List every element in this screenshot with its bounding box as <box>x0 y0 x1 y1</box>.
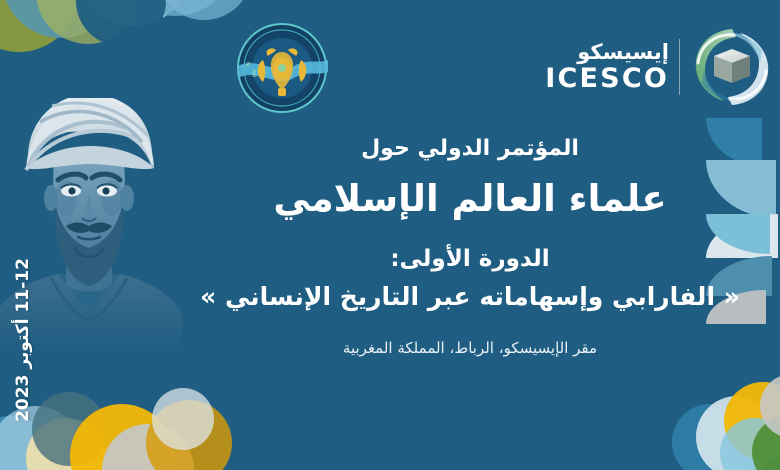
deco-circle <box>146 400 232 470</box>
partner-emblem-kazakhstan: MINISTRY OF SCIENCE AND HIGHER EDUCATION… <box>230 16 334 120</box>
icesco-logo: إيسيسكو ICESCO <box>558 24 774 110</box>
deco-circle <box>152 388 214 450</box>
deco-circle <box>118 0 234 16</box>
deco-circle <box>720 418 780 470</box>
page-title: علماء العالم الإسلامي <box>190 177 750 220</box>
deco-circle <box>724 382 780 460</box>
deco-circle <box>672 404 748 470</box>
deco-circle <box>36 0 140 44</box>
deco-circle <box>78 0 190 26</box>
deco-circle <box>32 392 106 466</box>
conference-edition: الدورة الأولى: <box>190 246 750 272</box>
deco-circle <box>760 374 780 438</box>
event-date: 11-12 أكتوبر 2023 <box>13 245 33 435</box>
deco-circle <box>102 424 194 470</box>
deco-circle <box>26 418 106 470</box>
conference-venue: مقر الإيسيسكو، الرباط، المملكة المغربية <box>190 339 750 357</box>
deco-circle <box>696 396 778 470</box>
icesco-name-arabic: إيسيسكو <box>577 42 669 63</box>
decorative-circles-bottom-right <box>690 392 780 470</box>
deco-circle <box>2 0 120 38</box>
icesco-swirl-cube-icon <box>690 25 774 109</box>
deco-circle <box>752 416 780 470</box>
icesco-name-english: ICESCO <box>545 65 669 92</box>
conference-theme: « الفارابي وإسهاماته عبر التاريخ الإنسان… <box>190 282 750 311</box>
conference-eyebrow: المؤتمر الدولي حول <box>190 136 750 161</box>
deco-circle <box>0 0 78 52</box>
event-text-block: المؤتمر الدولي حول علماء العالم الإسلامي… <box>190 136 750 357</box>
decorative-circles-bottom-left <box>0 398 244 470</box>
conference-banner: 11-12 أكتوبر 2023 <box>0 0 780 470</box>
icesco-wordmark: إيسيسكو ICESCO <box>545 42 669 92</box>
deco-circle <box>76 0 166 46</box>
deco-circle <box>70 404 174 470</box>
logo-divider <box>679 39 680 95</box>
decorative-circles-top-left <box>0 0 220 64</box>
kazakhstan-ministry-emblem-icon: MINISTRY OF SCIENCE AND HIGHER EDUCATION… <box>230 16 334 120</box>
